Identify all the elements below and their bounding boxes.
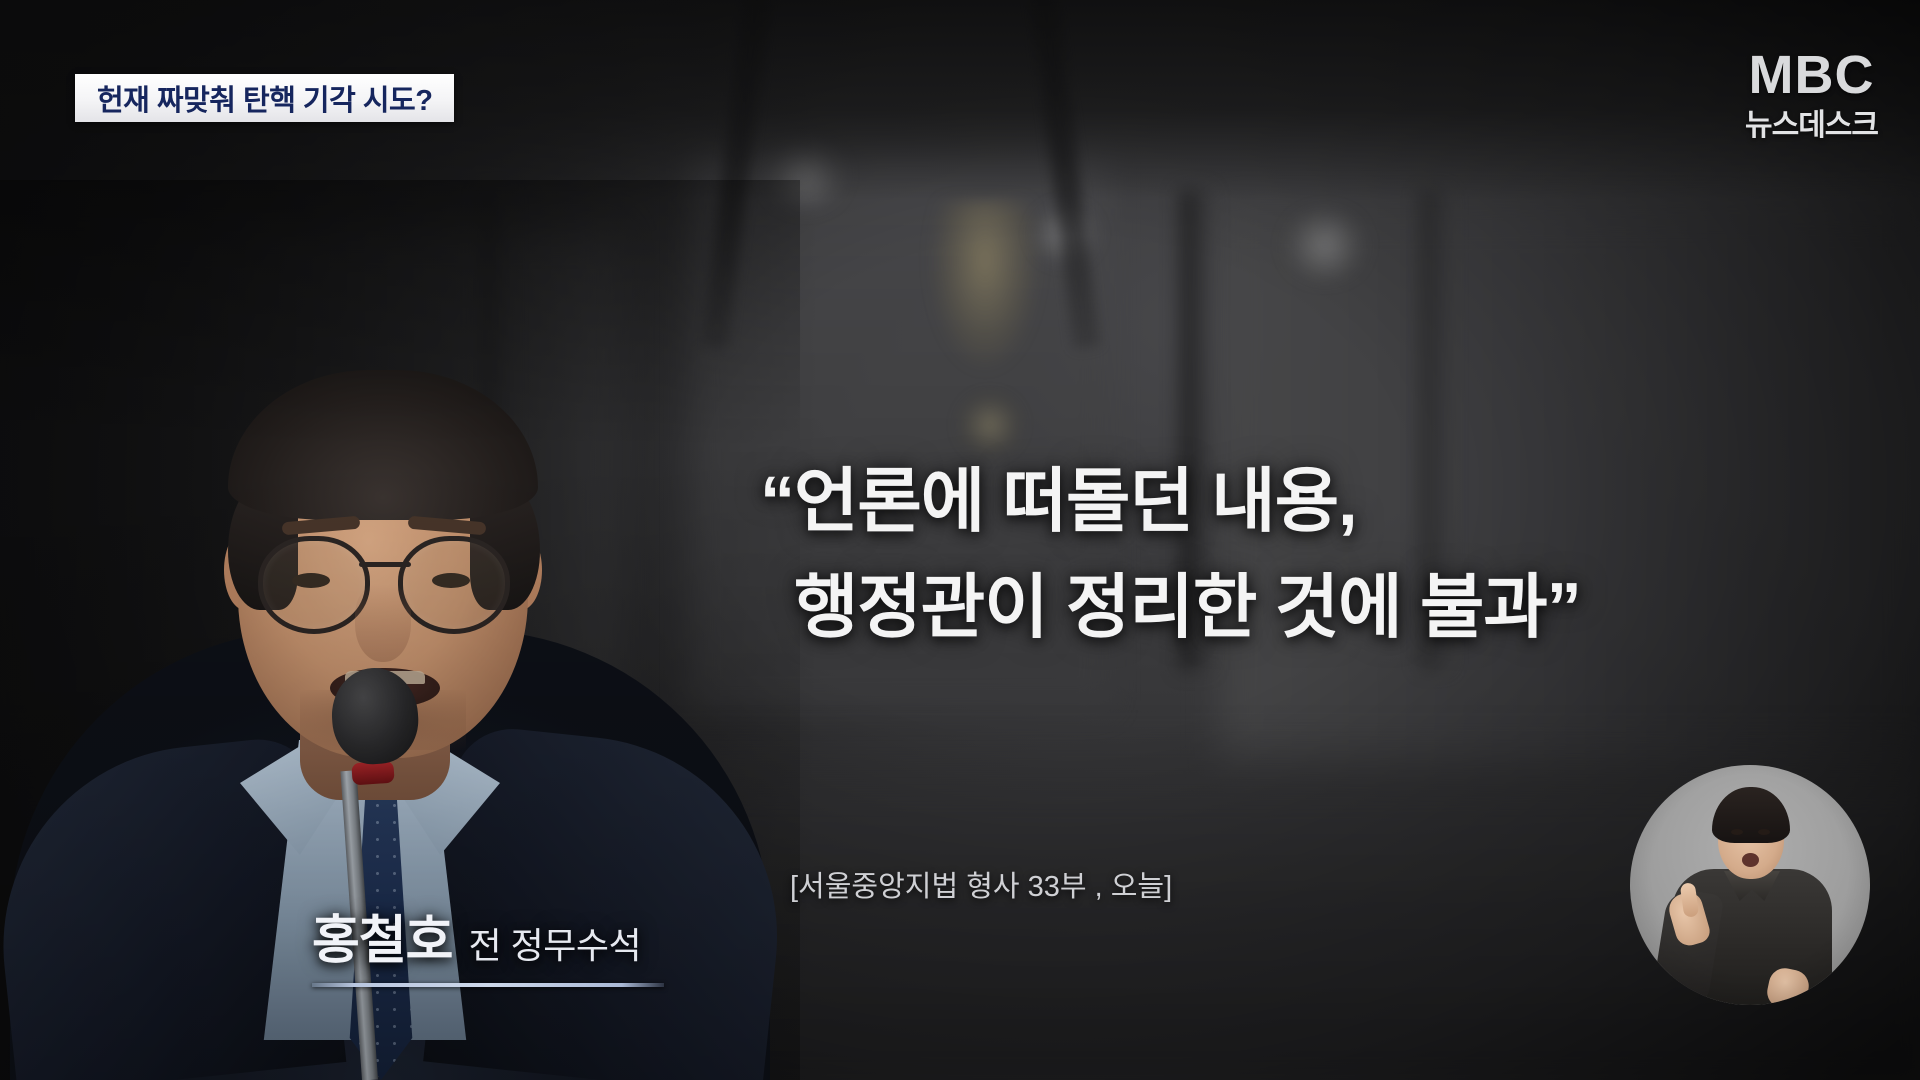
quote-line-2: 행정관이 정리한 것에 불과” — [760, 554, 1820, 660]
quote-overlay: “언론에 떠돌던 내용, 행정관이 정리한 것에 불과” — [760, 448, 1820, 661]
caption-row: 홍철호 전 정무수석 — [312, 898, 664, 973]
network-logo: MBC 뉴스데스크 — [1745, 48, 1878, 141]
network-logo-main: MBC — [1745, 48, 1878, 102]
lower-third-caption: 홍철호 전 정무수석 — [312, 898, 664, 987]
network-logo-program: 뉴스데스크 — [1745, 111, 1878, 141]
quote-source-attribution: [서울중앙지법 형사 33부 , 오늘] — [790, 863, 1172, 905]
speaker-title: 전 정무수석 — [469, 917, 642, 969]
sign-language-interpreter-inset — [1630, 765, 1870, 1005]
eyeglass-bridge — [359, 562, 411, 567]
headline-banner: 헌재 짜맞춰 탄핵 기각 시도? — [75, 74, 454, 122]
eyeglass-lens-left — [258, 536, 370, 634]
speaker-nose — [355, 584, 411, 662]
broadcast-video-frame: 헌재 짜맞춰 탄핵 기각 시도? MBC 뉴스데스크 “언론에 떠돌던 내용, … — [0, 0, 1920, 1080]
quote-line-1: “언론에 떠돌던 내용, — [760, 448, 1820, 554]
speaker-name: 홍철호 — [312, 898, 453, 973]
microphone-ring — [351, 761, 394, 786]
interpreter-inset-shading — [1630, 765, 1870, 1005]
speaker-hair — [228, 370, 538, 520]
headline-text: 헌재 짜맞춰 탄핵 기각 시도? — [97, 77, 432, 119]
eyeglass-lens-right — [398, 536, 510, 634]
caption-underline — [312, 983, 664, 987]
